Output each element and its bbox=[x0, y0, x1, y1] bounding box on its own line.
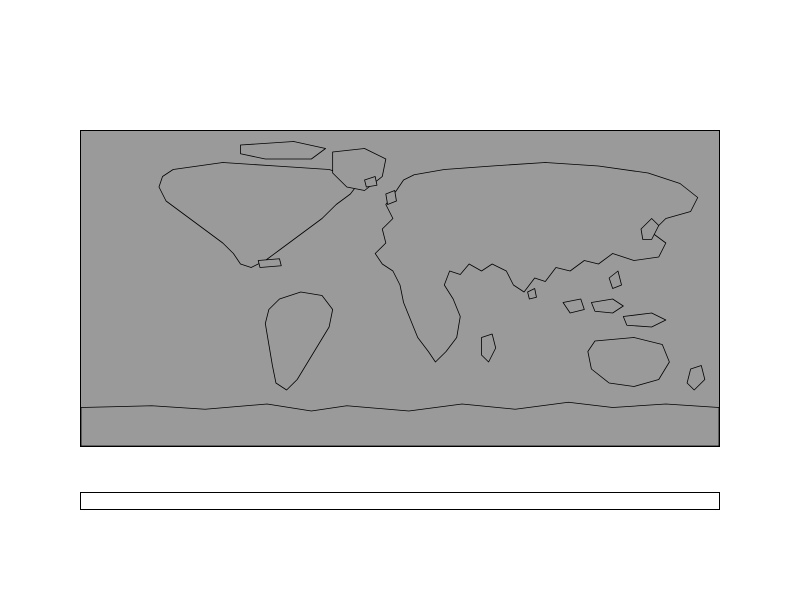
map-plot-area bbox=[80, 130, 720, 447]
land-mask-overlay bbox=[81, 131, 719, 446]
colorbar bbox=[80, 492, 720, 510]
coastline-paths bbox=[81, 131, 719, 446]
figure-canvas bbox=[0, 0, 800, 600]
